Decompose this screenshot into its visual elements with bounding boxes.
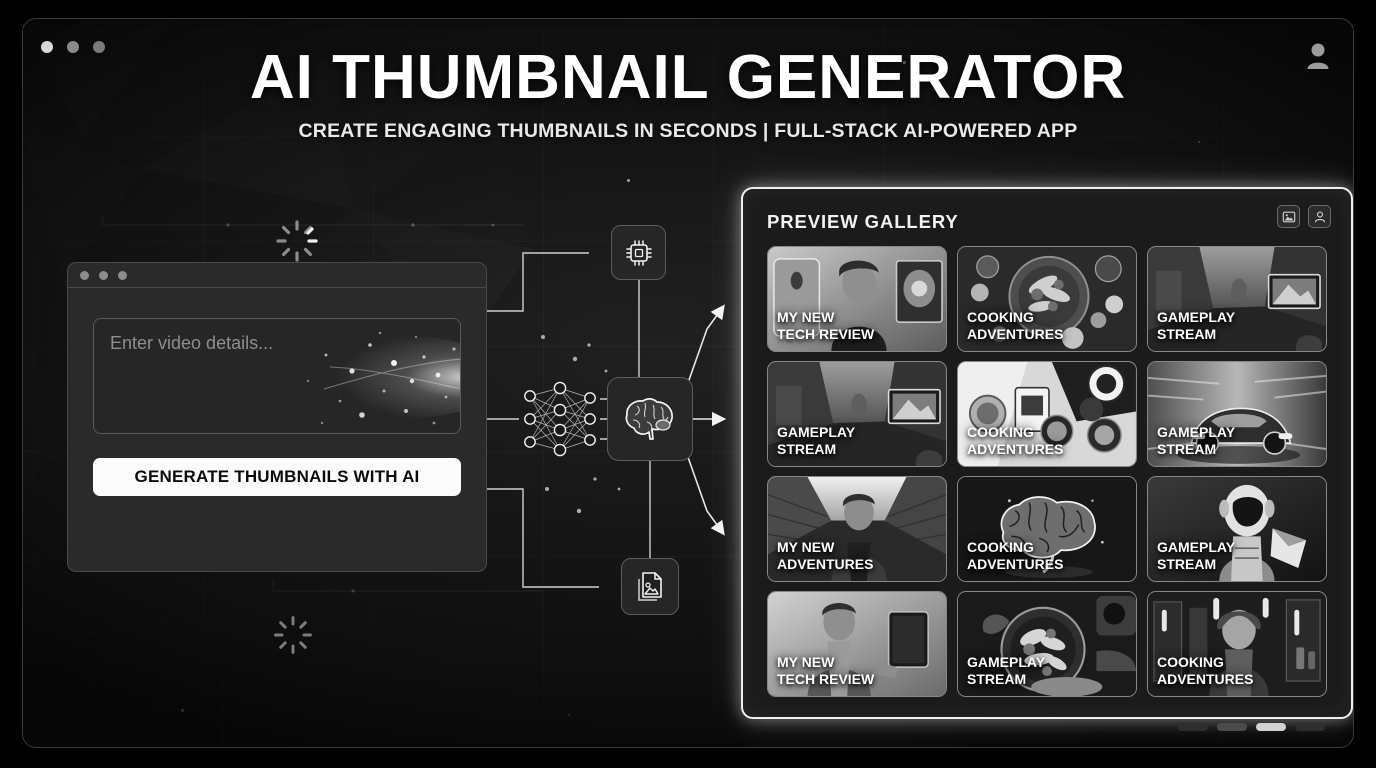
maximize-dot[interactable] bbox=[93, 41, 105, 53]
neural-network-icon bbox=[520, 374, 600, 464]
image-output-node[interactable] bbox=[621, 558, 679, 615]
app-window: AI THUMBNAIL GENERATOR CREATE ENGAGING T… bbox=[22, 18, 1354, 748]
thumbnail-label: MY NEW ADVENTURES bbox=[777, 539, 937, 572]
thumbnail-card[interactable]: GAMEPLAY STREAM bbox=[767, 361, 947, 467]
star-dot bbox=[568, 714, 570, 716]
loading-spinner-bottom bbox=[271, 613, 315, 657]
minimize-dot[interactable] bbox=[67, 41, 79, 53]
thumbnail-label: GAMEPLAY STREAM bbox=[777, 424, 937, 457]
person-icon bbox=[1313, 210, 1327, 224]
page-subtitle: CREATE ENGAGING THUMBNAILS IN SECONDS | … bbox=[23, 120, 1353, 143]
chip-icon bbox=[623, 237, 655, 269]
input-window: Enter video details... bbox=[67, 262, 487, 572]
thumbnail-grid: MY NEW TECH REVIEW COOKING ADVENTURES GA… bbox=[767, 246, 1327, 697]
image-file-icon bbox=[634, 570, 666, 604]
page-title: AI THUMBNAIL GENERATOR bbox=[23, 45, 1353, 110]
thumbnail-label: GAMEPLAY STREAM bbox=[1157, 424, 1317, 457]
thumbnail-label: GAMEPLAY STREAM bbox=[1157, 539, 1317, 572]
header: AI THUMBNAIL GENERATOR CREATE ENGAGING T… bbox=[23, 45, 1353, 143]
prompt-input[interactable]: Enter video details... bbox=[93, 318, 461, 434]
thumbnail-card[interactable]: MY NEW ADVENTURES bbox=[767, 476, 947, 582]
processor-node[interactable] bbox=[611, 225, 666, 280]
pagination-dot[interactable] bbox=[1295, 723, 1325, 731]
gallery-title: PREVIEW GALLERY bbox=[767, 211, 959, 233]
pagination-dot[interactable] bbox=[1256, 723, 1286, 731]
gallery-actions bbox=[1277, 205, 1331, 228]
thumbnail-card[interactable]: COOKING ADVENTURES bbox=[957, 246, 1137, 352]
ai-brain-node[interactable] bbox=[607, 377, 693, 461]
thumbnail-label: MY NEW TECH REVIEW bbox=[777, 309, 937, 342]
preview-gallery-panel: PREVIEW GALLERY MY NEW TE bbox=[741, 187, 1353, 719]
thumbnail-label: MY NEW TECH REVIEW bbox=[777, 654, 937, 687]
generate-thumbnails-button[interactable]: GENERATE THUMBNAILS WITH AI bbox=[93, 458, 461, 496]
thumbnail-card[interactable]: GAMEPLAY STREAM bbox=[1147, 246, 1327, 352]
loading-spinner-top bbox=[273, 217, 321, 265]
window-controls[interactable] bbox=[41, 41, 105, 53]
thumbnail-label: COOKING ADVENTURES bbox=[967, 539, 1127, 572]
prompt-placeholder: Enter video details... bbox=[110, 333, 273, 354]
pagination-dot[interactable] bbox=[1217, 723, 1247, 731]
thumbnail-card[interactable]: GAMEPLAY STREAM bbox=[1147, 361, 1327, 467]
star-dot bbox=[627, 179, 630, 182]
thumbnail-label: GAMEPLAY STREAM bbox=[1157, 309, 1317, 342]
star-dot bbox=[181, 709, 184, 712]
thumbnail-card[interactable]: GAMEPLAY STREAM bbox=[957, 591, 1137, 697]
view-images-button[interactable] bbox=[1277, 205, 1300, 228]
input-window-titlebar bbox=[68, 263, 486, 288]
thumbnail-label: GAMEPLAY STREAM bbox=[967, 654, 1127, 687]
pagination-dot[interactable] bbox=[1178, 723, 1208, 731]
maximize-dot[interactable] bbox=[118, 271, 127, 280]
thumbnail-label: COOKING ADVENTURES bbox=[967, 309, 1127, 342]
thumbnail-card[interactable]: MY NEW TECH REVIEW bbox=[767, 246, 947, 352]
image-icon bbox=[1282, 210, 1296, 224]
minimize-dot[interactable] bbox=[99, 271, 108, 280]
thumbnail-card[interactable]: GAMEPLAY STREAM bbox=[1147, 476, 1327, 582]
pagination[interactable] bbox=[1178, 723, 1325, 731]
thumbnail-label: COOKING ADVENTURES bbox=[967, 424, 1127, 457]
thumbnail-card[interactable]: COOKING ADVENTURES bbox=[1147, 591, 1327, 697]
close-dot[interactable] bbox=[80, 271, 89, 280]
view-people-button[interactable] bbox=[1308, 205, 1331, 228]
close-dot[interactable] bbox=[41, 41, 53, 53]
thumbnail-label: COOKING ADVENTURES bbox=[1157, 654, 1317, 687]
thumbnail-card[interactable]: COOKING ADVENTURES bbox=[957, 476, 1137, 582]
brain-icon bbox=[623, 396, 677, 442]
thumbnail-card[interactable]: MY NEW TECH REVIEW bbox=[767, 591, 947, 697]
user-avatar-icon[interactable] bbox=[1305, 41, 1331, 71]
thumbnail-card[interactable]: COOKING ADVENTURES bbox=[957, 361, 1137, 467]
